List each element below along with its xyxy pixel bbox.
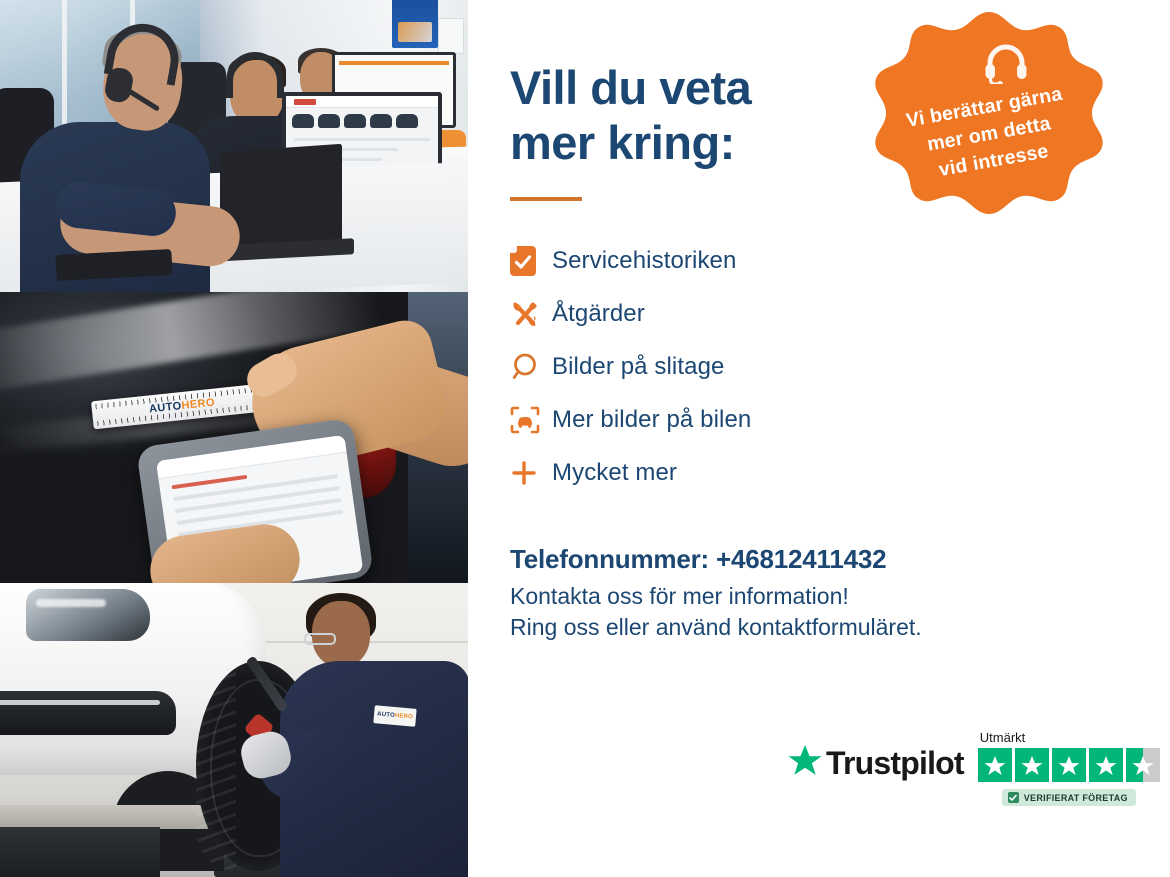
contact-block: Telefonnummer: +46812411432 Kontakta oss… xyxy=(510,544,1170,643)
document-check-icon xyxy=(510,246,552,276)
brand-part-hero: HERO xyxy=(395,713,414,721)
feature-label: Servicehistoriken xyxy=(552,247,736,275)
wall-banner xyxy=(392,0,438,48)
trustpilot-rating: Utmärkt xyxy=(978,730,1160,806)
lift-column xyxy=(0,827,160,877)
content-panel: Vill du veta mer kring: Servicehistorike… xyxy=(468,0,1170,877)
photo-column: AUTOHERO xyxy=(0,0,468,877)
call-center-agents-photo xyxy=(0,0,468,292)
contact-line-1: Kontakta oss för mer information! xyxy=(510,581,1170,612)
magnifier-icon xyxy=(510,352,552,382)
wheel-tread xyxy=(196,661,236,871)
rating-label: Utmärkt xyxy=(980,730,1026,745)
verified-badge: VERIFIERAT FÖRETAG xyxy=(1002,789,1136,806)
star-icon xyxy=(1052,748,1086,782)
phone-number[interactable]: Telefonnummer: +46812411432 xyxy=(510,544,1170,575)
trustpilot-wordmark: Trustpilot xyxy=(826,745,964,782)
feature-label: Åtgärder xyxy=(552,300,645,328)
feature-item-more-car-photos: Mer bilder på bilen xyxy=(510,394,1170,447)
callout-badge: Vi berättar gärna mer om detta vid intre… xyxy=(866,8,1112,256)
feature-list: Servicehistoriken Åtgärder xyxy=(510,235,1170,500)
mechanic-wheel-photo: AUTOHERO xyxy=(0,583,468,877)
car-headlight xyxy=(26,589,150,641)
autohero-shirt-logo: AUTOHERO xyxy=(373,705,416,727)
star-icon xyxy=(1089,748,1123,782)
trustpilot-widget[interactable]: Trustpilot Utmärkt xyxy=(788,730,1160,806)
wall-paper xyxy=(438,18,464,54)
mechanic-glasses xyxy=(304,633,336,645)
title-divider xyxy=(510,197,582,201)
brand-part-auto: AUTO xyxy=(377,711,395,719)
plus-icon xyxy=(510,459,552,487)
car-inspection-ruler-photo: AUTOHERO xyxy=(0,292,468,583)
feature-item-wear-photos: Bilder på slitage xyxy=(510,341,1170,394)
feature-label: Bilder på slitage xyxy=(552,353,724,381)
trustpilot-star-icon xyxy=(788,744,822,782)
feature-label: Mer bilder på bilen xyxy=(552,406,751,434)
star-icon-half xyxy=(1126,748,1160,782)
car-scan-icon xyxy=(510,406,552,434)
headset-icon xyxy=(983,42,1029,84)
promo-page: AUTOHERO xyxy=(0,0,1170,877)
contact-line-2: Ring oss eller använd kontaktformuläret. xyxy=(510,612,1170,643)
feature-item-actions: Åtgärder xyxy=(510,288,1170,341)
verified-label: VERIFIERAT FÖRETAG xyxy=(1024,793,1128,803)
trustpilot-logo: Trustpilot xyxy=(788,744,964,782)
lift-pad xyxy=(0,805,210,829)
car-grille xyxy=(0,691,176,735)
wrench-screwdriver-icon xyxy=(510,299,552,329)
star-rating xyxy=(978,748,1160,782)
star-icon xyxy=(1015,748,1049,782)
verified-check-icon xyxy=(1008,792,1019,803)
feature-item-much-more: Mycket mer xyxy=(510,447,1170,500)
feature-label: Mycket mer xyxy=(552,459,677,487)
star-icon xyxy=(978,748,1012,782)
